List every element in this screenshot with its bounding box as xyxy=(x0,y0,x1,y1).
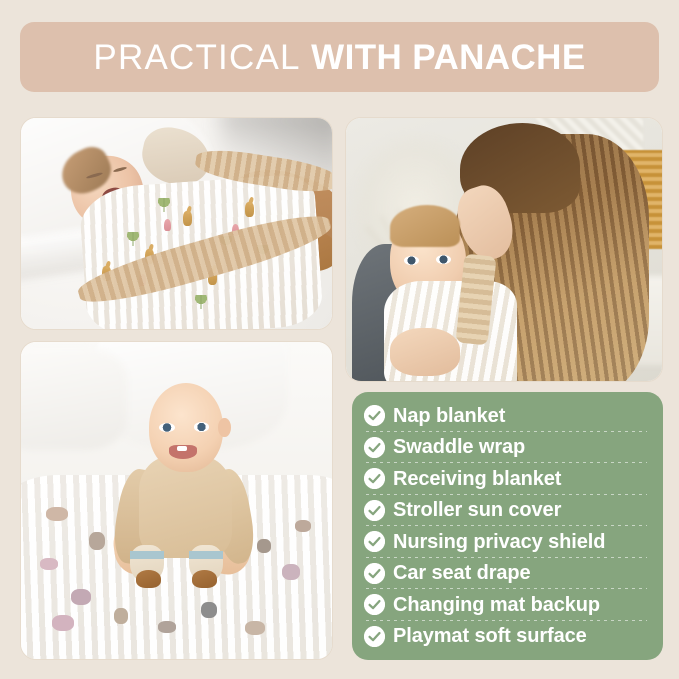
check-circle-icon xyxy=(364,531,385,552)
list-item: Playmat soft surface xyxy=(364,621,649,652)
list-item-label: Nursing privacy shield xyxy=(393,532,605,552)
header-banner: PRACTICAL WITH PANACHE xyxy=(20,22,659,92)
list-item: Changing mat backup xyxy=(364,589,649,620)
list-item: Swaddle wrap xyxy=(364,432,649,463)
photo-image-baby-sitting xyxy=(21,342,332,659)
check-circle-icon xyxy=(364,500,385,521)
check-circle-icon xyxy=(364,437,385,458)
photo-image-mother-kissing-baby xyxy=(346,118,662,381)
feature-list-panel: Nap blanket Swaddle wrap Receiving blank… xyxy=(352,392,663,660)
list-item-label: Receiving blanket xyxy=(393,469,561,489)
list-item-label: Changing mat backup xyxy=(393,595,600,615)
check-circle-icon xyxy=(364,563,385,584)
list-item: Nap blanket xyxy=(364,400,649,431)
list-item: Car seat drape xyxy=(364,558,649,589)
list-item-label: Playmat soft surface xyxy=(393,626,587,646)
page-title: PRACTICAL WITH PANACHE xyxy=(93,40,585,75)
photo-card-mother-kissing-baby xyxy=(345,117,663,382)
check-circle-icon xyxy=(364,468,385,489)
title-light-part: PRACTICAL xyxy=(93,40,300,75)
list-item-label: Nap blanket xyxy=(393,406,505,426)
list-item: Receiving blanket xyxy=(364,463,649,494)
check-circle-icon xyxy=(364,626,385,647)
photo-image-baby-laughing xyxy=(21,118,332,329)
list-item-label: Stroller sun cover xyxy=(393,500,561,520)
photo-card-baby-sitting-on-blanket xyxy=(20,341,333,660)
list-item: Nursing privacy shield xyxy=(364,526,649,557)
check-circle-icon xyxy=(364,405,385,426)
check-circle-icon xyxy=(364,594,385,615)
photo-card-baby-laughing-in-swaddle-blanket xyxy=(20,117,333,330)
list-item-label: Car seat drape xyxy=(393,563,531,583)
list-item-label: Swaddle wrap xyxy=(393,437,525,457)
list-item: Stroller sun cover xyxy=(364,495,649,526)
title-bold-part: WITH PANACHE xyxy=(311,40,585,75)
product-feature-graphic: PRACTICAL WITH PANACHE xyxy=(0,0,679,679)
